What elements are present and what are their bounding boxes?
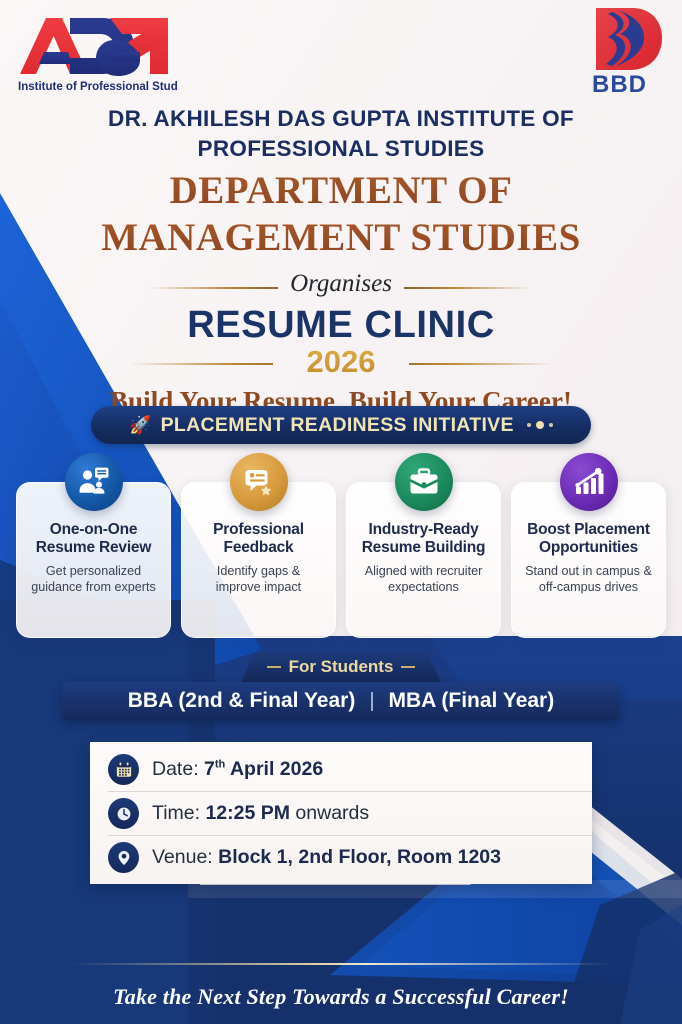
event-year: 2026 xyxy=(293,344,390,380)
feedback-star-icon xyxy=(243,466,275,498)
detail-date-label: Date: xyxy=(152,758,199,780)
institute-name-line2: PROFESSIONAL STUDIES xyxy=(0,134,682,164)
card-desc-2a: Identify gaps & xyxy=(189,564,328,580)
for-students-tab: For Students xyxy=(241,652,441,682)
tab-dash-right xyxy=(401,666,415,668)
footer-divider xyxy=(70,963,612,965)
detail-row-time: Time: 12:25 PM onwards xyxy=(108,792,592,836)
card-desc-1a: Get personalized xyxy=(24,564,163,580)
card-title-2a: Professional xyxy=(189,521,328,539)
detail-date-monthyear: April 2026 xyxy=(225,758,323,780)
poster-root: Institute of Professional Studies BBD DR… xyxy=(0,0,682,1024)
card-desc-4a: Stand out in campus & xyxy=(519,564,658,580)
adgips-logo: Institute of Professional Studies xyxy=(10,6,178,94)
calendar-icon xyxy=(108,754,139,785)
location-pin-icon xyxy=(108,842,139,873)
department-name-line2: MANAGEMENT STUDIES xyxy=(0,217,682,258)
detail-date-text: Date: 7th April 2026 xyxy=(152,758,323,781)
feature-card-boost-placement: Boost Placement Opportunities Stand out … xyxy=(511,482,666,638)
logo-bar: Institute of Professional Studies BBD xyxy=(0,0,682,100)
feature-card-industry-ready: Industry-Ready Resume Building Aligned w… xyxy=(346,482,501,638)
card-icon-badge-4 xyxy=(560,453,618,511)
detail-venue-text: Venue: Block 1, 2nd Floor, Room 1203 xyxy=(152,846,501,869)
event-title: RESUME CLINIC xyxy=(0,304,682,346)
feature-card-professional-feedback: Professional Feedback Identify gaps & im… xyxy=(181,482,336,638)
detail-venue-label: Venue: xyxy=(152,846,213,868)
detail-venue-value: Block 1, 2nd Floor, Room 1203 xyxy=(218,846,501,868)
institute-name-line1: DR. AKHILESH DAS GUPTA INSTITUTE OF xyxy=(0,104,682,134)
card-icon-badge-1 xyxy=(65,453,123,511)
bbd-logo-text: BBD xyxy=(592,71,647,96)
detail-row-venue: Venue: Block 1, 2nd Floor, Room 1203 xyxy=(108,836,592,879)
feature-card-resume-review: One-on-One Resume Review Get personalize… xyxy=(16,482,171,638)
detail-row-date: Date: 7th April 2026 xyxy=(108,748,592,792)
eligibility-separator: | xyxy=(369,690,374,713)
card-title-4a: Boost Placement xyxy=(519,521,658,539)
detail-date-ordinal: th xyxy=(215,759,225,771)
eligibility-mba: MBA (Final Year) xyxy=(389,689,555,713)
detail-time-label: Time: xyxy=(152,802,200,824)
department-name-line1: DEPARTMENT OF xyxy=(0,170,682,211)
people-chat-icon xyxy=(78,466,110,498)
event-year-row: 2026 xyxy=(0,344,682,380)
briefcase-icon xyxy=(408,466,440,498)
bbd-logo: BBD xyxy=(586,4,670,96)
card-title-1b: Resume Review xyxy=(24,539,163,557)
card-icon-badge-2 xyxy=(230,453,288,511)
for-students-label: For Students xyxy=(289,657,394,677)
detail-time-value: 12:25 PM xyxy=(205,802,290,824)
card-icon-badge-3 xyxy=(395,453,453,511)
event-details-panel: Date: 7th April 2026 Time: 12:25 PM onwa… xyxy=(90,742,592,884)
organises-row: Organises xyxy=(0,270,682,300)
card-title-4b: Opportunities xyxy=(519,539,658,557)
card-title-2b: Feedback xyxy=(189,539,328,557)
ribbon-label: PLACEMENT READINESS INITIATIVE xyxy=(161,414,514,437)
organises-label: Organises xyxy=(274,270,408,298)
eligibility-bar: BBA (2nd & Final Year) | MBA (Final Year… xyxy=(62,682,620,720)
rocket-icon: 🚀 xyxy=(129,416,151,434)
tab-dash-left xyxy=(267,666,281,668)
growth-chart-icon xyxy=(573,466,605,498)
card-desc-2b: improve impact xyxy=(189,580,328,596)
eligibility-bba: BBA (2nd & Final Year) xyxy=(128,689,356,713)
feature-cards: One-on-One Resume Review Get personalize… xyxy=(16,482,666,638)
card-title-3b: Resume Building xyxy=(354,539,493,557)
year-rule-left xyxy=(128,363,273,365)
detail-time-text: Time: 12:25 PM onwards xyxy=(152,802,369,825)
ribbon-dots xyxy=(527,421,553,429)
card-title-1a: One-on-One xyxy=(24,521,163,539)
card-desc-1b: guidance from experts xyxy=(24,580,163,596)
placement-readiness-ribbon: 🚀 PLACEMENT READINESS INITIATIVE xyxy=(91,406,591,444)
adgips-logo-subtitle: Institute of Professional Studies xyxy=(18,81,178,93)
year-rule-right xyxy=(409,363,554,365)
clock-icon xyxy=(108,798,139,829)
card-title-3a: Industry-Ready xyxy=(354,521,493,539)
detail-time-suffix: onwards xyxy=(290,802,369,824)
organises-rule-right xyxy=(404,287,532,289)
footer-tagline: Take the Next Step Towards a Successful … xyxy=(0,984,682,1010)
card-desc-3a: Aligned with recruiter xyxy=(354,564,493,580)
title-block: DR. AKHILESH DAS GUPTA INSTITUTE OF PROF… xyxy=(0,104,682,417)
card-desc-3b: expectations xyxy=(354,580,493,596)
card-desc-4b: off-campus drives xyxy=(519,580,658,596)
detail-date-day: 7 xyxy=(204,758,215,780)
organises-rule-left xyxy=(150,287,278,289)
